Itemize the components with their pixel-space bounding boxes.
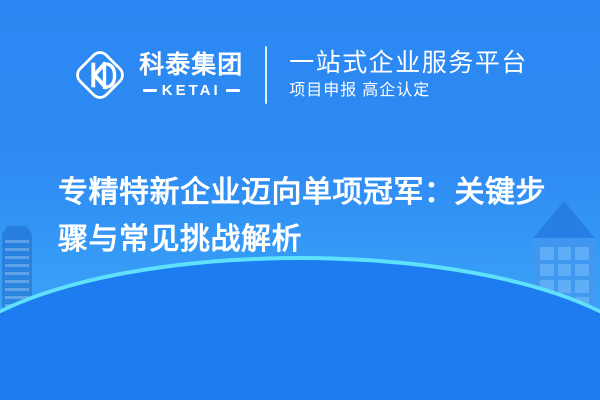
dash-left-icon [143,89,157,92]
ground-arc [0,260,600,400]
tagline-sub: 项目申报 高企认定 [289,83,528,99]
company-name-en-row: KETAI [143,83,240,98]
tagline-main: 一站式企业服务平台 [289,51,528,76]
window [575,247,589,260]
window [540,264,554,277]
promo-banner: 科泰集团 KETAI 一站式企业服务平台 项目申报 高企认定 专精特新企业迈向单… [0,0,600,400]
tagline-block: 一站式企业服务平台 项目申报 高企认定 [289,51,528,99]
company-name-cn: 科泰集团 [139,53,243,78]
header-divider [265,46,267,104]
company-name-en: KETAI [162,83,221,98]
ketai-diamond-kd-monogram-icon [72,47,128,103]
dash-right-icon [226,89,240,92]
window [575,264,589,277]
window [558,280,572,293]
banner-header: 科泰集团 KETAI 一站式企业服务平台 项目申报 高企认定 [0,36,600,114]
window [575,280,589,293]
page-title: 专精特新企业迈向单项冠军：关键步骤与常见挑战解析 [58,170,558,264]
window [558,264,572,277]
wordmark: 科泰集团 KETAI [139,53,243,98]
window [558,247,572,260]
brand-logo[interactable]: 科泰集团 KETAI [72,47,243,103]
